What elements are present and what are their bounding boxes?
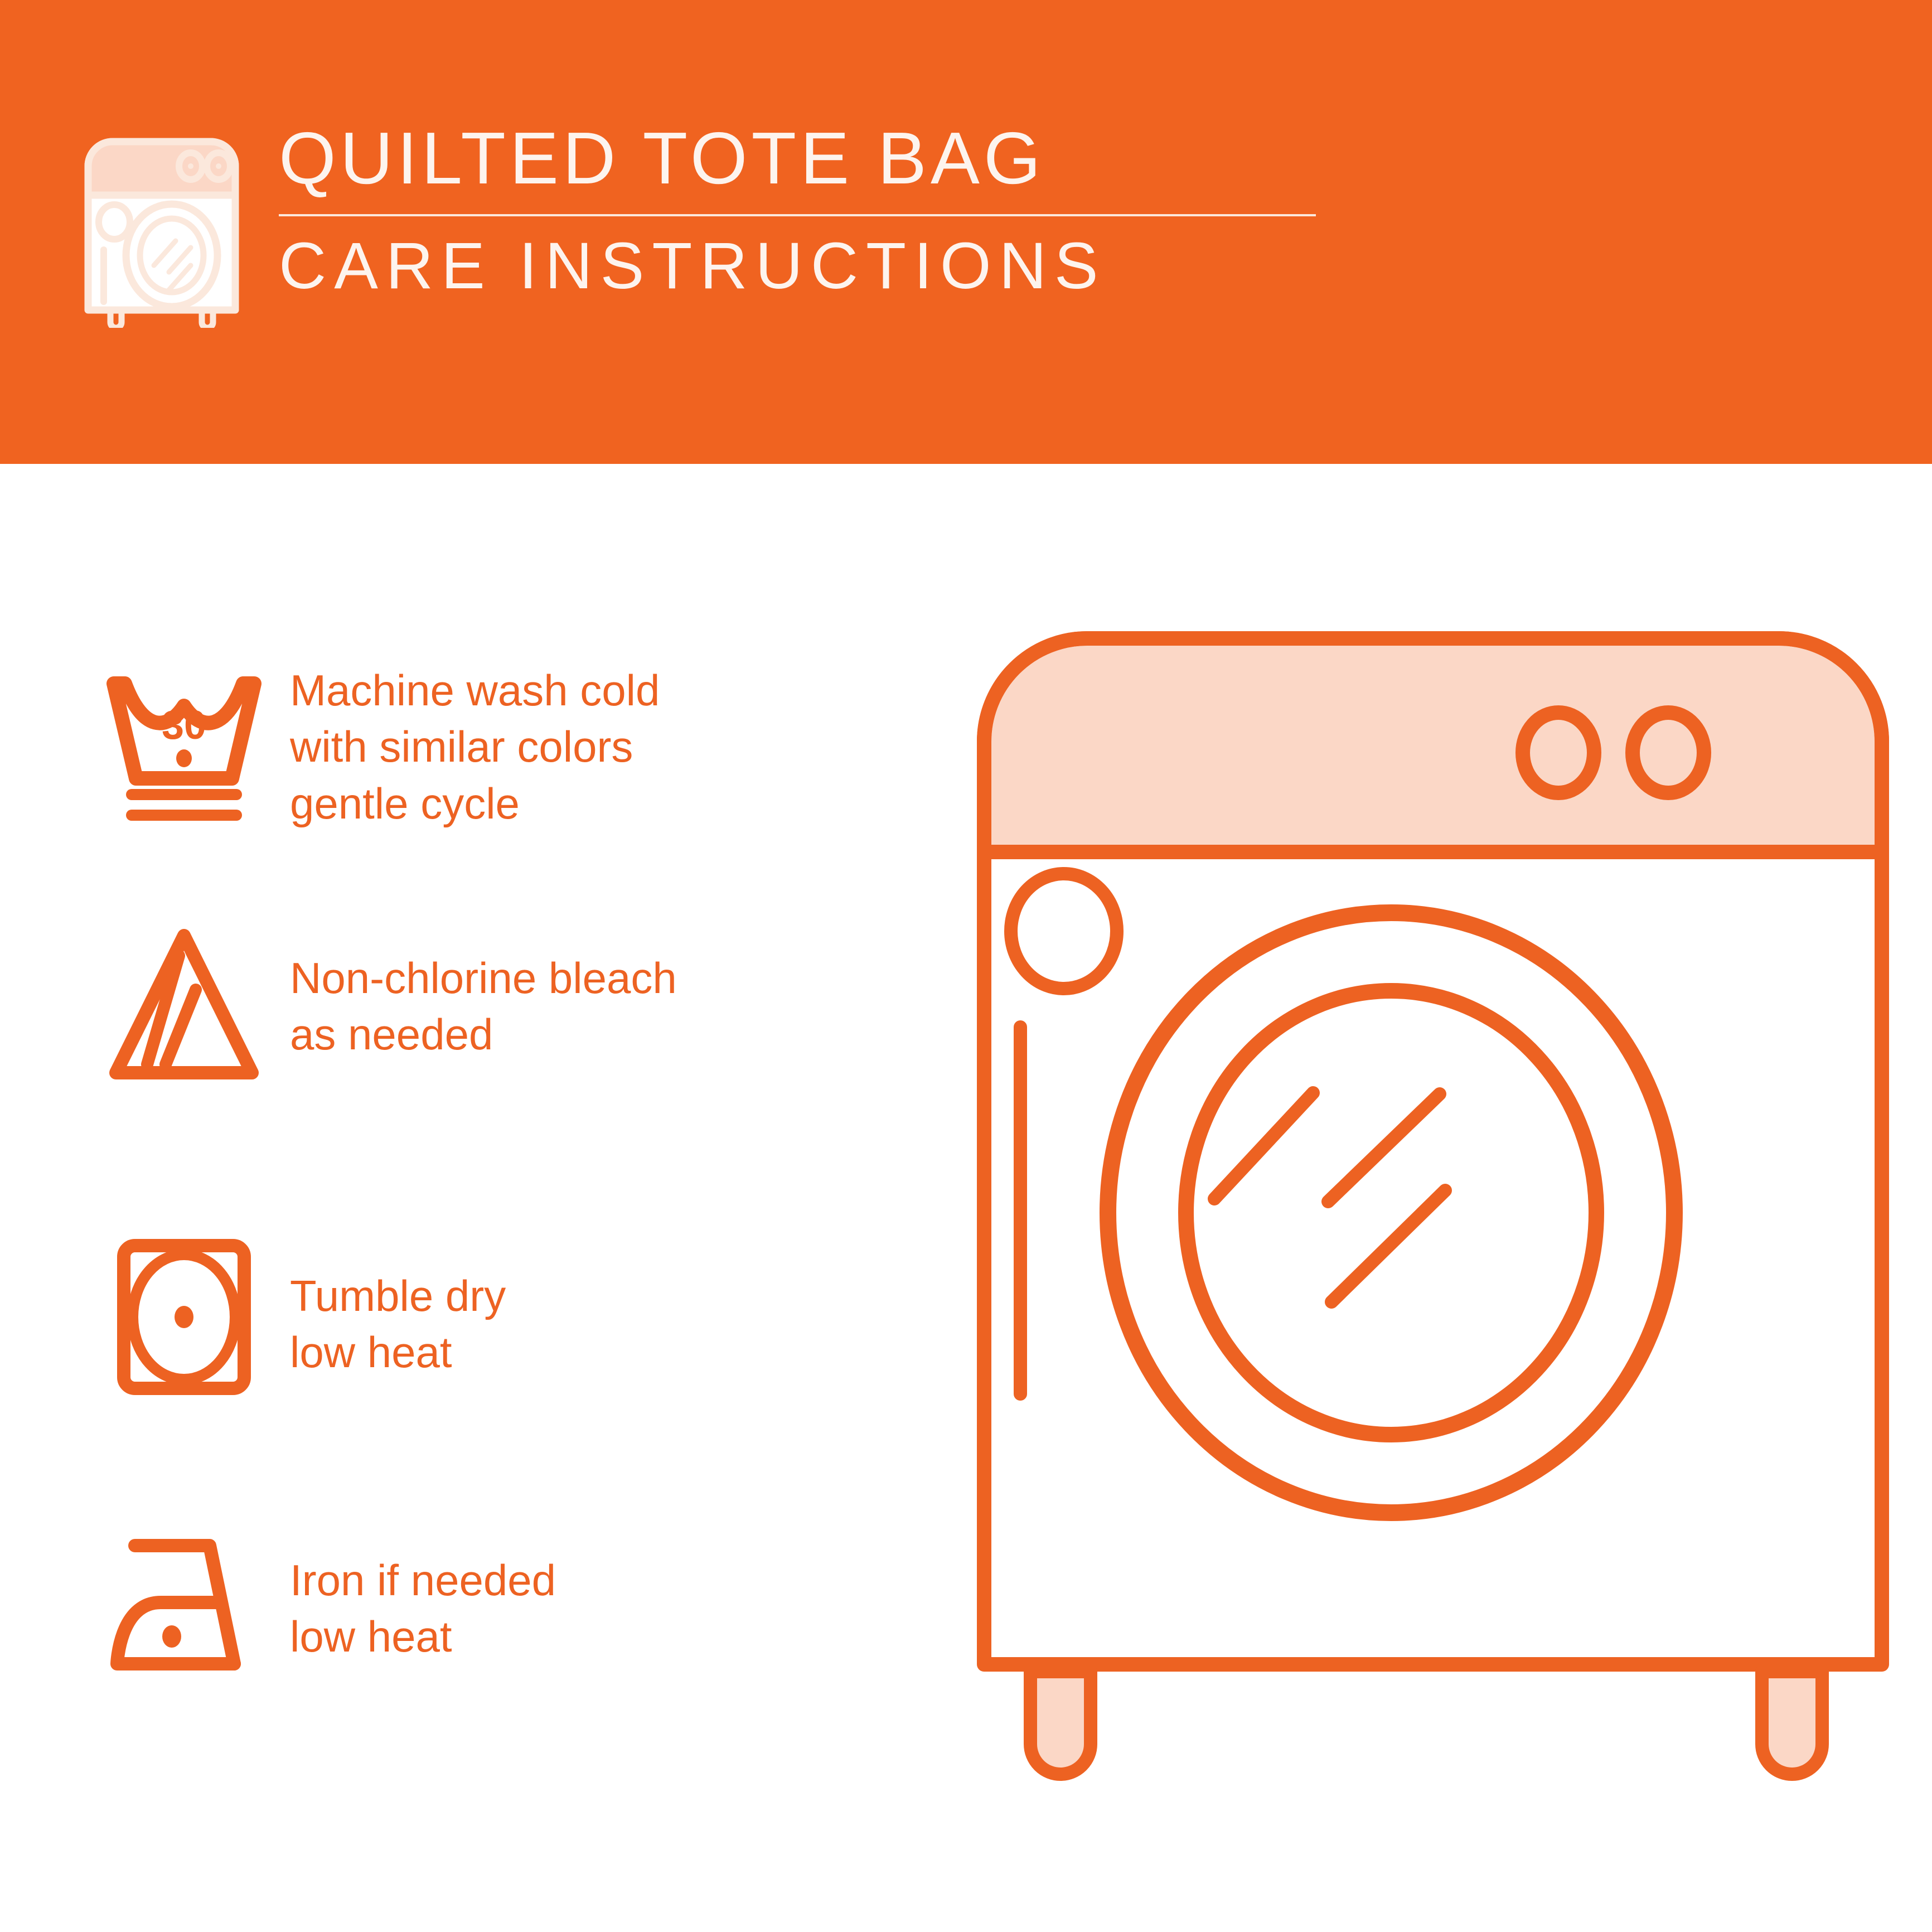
care-text-line: Iron if needed [290, 1552, 948, 1609]
care-instruction-list: 30 Machine wash cold with similar colors… [0, 464, 970, 1932]
care-item-iron: Iron if needed low heat [78, 1518, 948, 1685]
care-item-tumble-dry: Tumble dry low heat [78, 1233, 948, 1401]
care-text-line: gentle cycle [290, 776, 948, 832]
page-title: QUILTED TOTE BAG [279, 122, 1338, 195]
washing-machine-icon [78, 132, 245, 328]
care-text-line: Non-chlorine bleach [290, 950, 948, 1006]
header-title-block: QUILTED TOTE BAG CARE INSTRUCTIONS [279, 122, 1338, 299]
washer-foot-right [1762, 1672, 1822, 1774]
washer-foot-left [1030, 1672, 1091, 1774]
care-text-line: Machine wash cold [290, 662, 948, 719]
care-item-text: Machine wash cold with similar colors ge… [290, 659, 948, 832]
tumble-dry-low-icon [78, 1233, 290, 1401]
title-divider [279, 214, 1316, 216]
care-item-bleach: Non-chlorine bleach as needed [78, 921, 948, 1088]
care-instructions-page: QUILTED TOTE BAG CARE INSTRUCTIONS 30 [0, 0, 1932, 1932]
header-banner: QUILTED TOTE BAG CARE INSTRUCTIONS [0, 0, 1932, 464]
care-item-machine-wash: 30 Machine wash cold with similar colors… [78, 659, 948, 832]
care-text-line: low heat [290, 1609, 948, 1665]
care-item-text: Iron if needed low heat [290, 1518, 948, 1665]
non-chlorine-bleach-icon [78, 921, 290, 1088]
wash-temp-label: 30 [162, 703, 206, 748]
iron-low-heat-icon [78, 1518, 290, 1685]
care-item-text: Tumble dry low heat [290, 1233, 948, 1381]
care-text-line: as needed [290, 1006, 948, 1063]
header-content: QUILTED TOTE BAG CARE INSTRUCTIONS [78, 132, 1338, 338]
washer-control-panel [991, 646, 1875, 848]
washing-machine-illustration [959, 613, 1907, 1907]
care-item-text: Non-chlorine bleach as needed [290, 921, 948, 1063]
care-text-line: Tumble dry [290, 1268, 948, 1324]
care-text-line: with similar colors [290, 719, 948, 775]
machine-wash-30-gentle-icon: 30 [78, 659, 290, 826]
page-subtitle: CARE INSTRUCTIONS [279, 233, 1338, 299]
care-text-line: low heat [290, 1324, 948, 1381]
